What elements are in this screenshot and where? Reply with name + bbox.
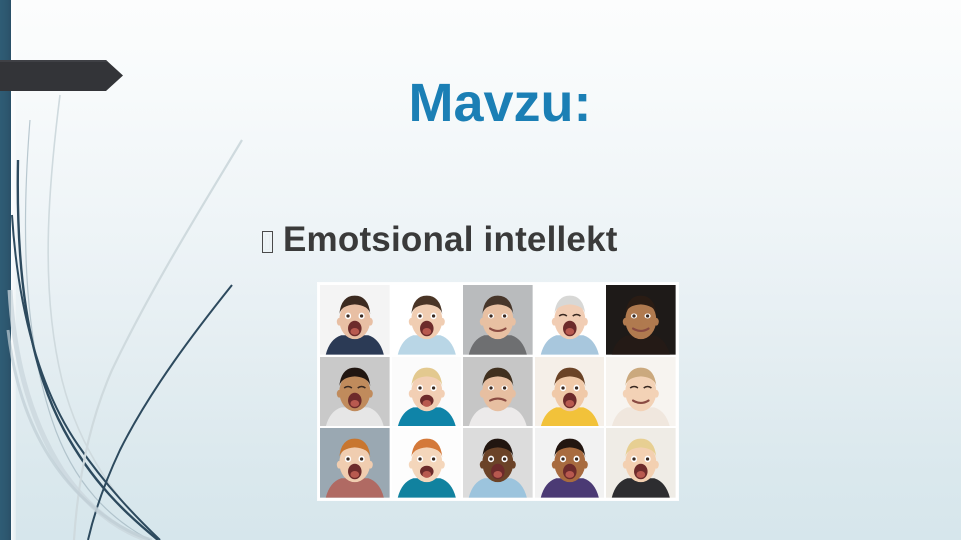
missing-glyph-bullet-icon: [262, 231, 273, 253]
collage-face-shouting-man-head-back: [392, 285, 462, 355]
page-title: Mavzu:: [120, 74, 880, 133]
collage-face-afro-person-with-headphones: [535, 428, 605, 498]
bullet-text: Emotsional intellekt: [283, 220, 618, 260]
presentation-slide: Mavzu: Emotsional intellekt: [0, 0, 961, 540]
collage-face-angry-man-grimacing: [320, 285, 390, 355]
collage-face-redhead-woman-surprised: [392, 428, 462, 498]
collage-face-screaming-child-covering-ears: [535, 357, 605, 427]
collage-face-man-forcing-smile: [463, 285, 533, 355]
collage-face-excited-woman-hat-glasses: [320, 428, 390, 498]
collage-face-blonde-woman-straw-hat-excited: [606, 428, 676, 498]
collage-face-shouting-man-hands-at-mouth: [463, 428, 533, 498]
collage-face-disgusted-man-in-tie: [463, 357, 533, 427]
bullet-line: Emotsional intellekt: [262, 220, 618, 260]
arrow-banner-shape: [0, 60, 123, 91]
collage-face-woman-fingers-crossed-eyes-closed: [606, 357, 676, 427]
emotion-faces-collage: [318, 283, 678, 500]
collage-face-shocked-blonde-woman-hands-on-cheeks: [392, 357, 462, 427]
collage-face-laughing-man-eyes-closed: [320, 357, 390, 427]
collage-face-laughing-elderly-man: [535, 285, 605, 355]
collage-face-surprised-woman-glasses-hand-on-mouth: [606, 285, 676, 355]
